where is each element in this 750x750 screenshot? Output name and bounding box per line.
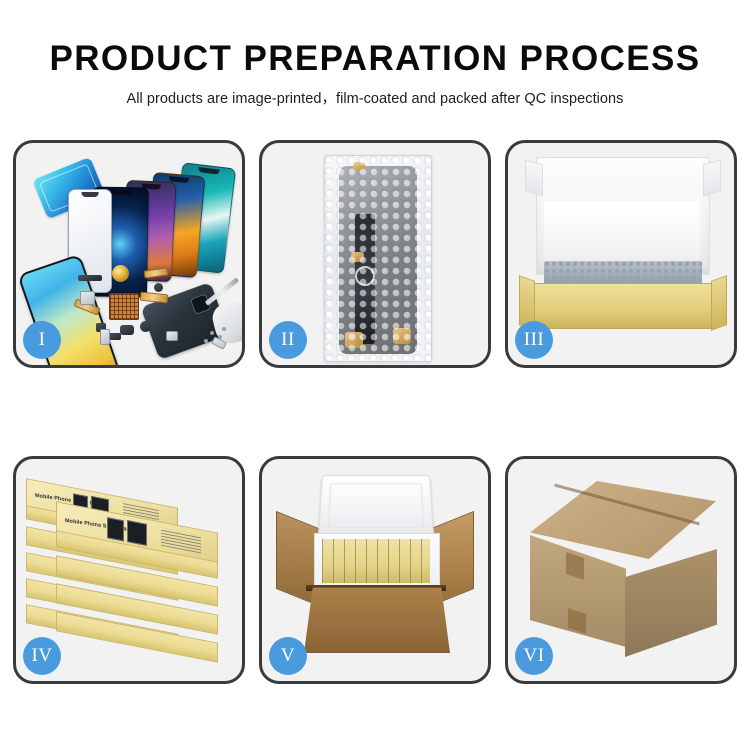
component-graphic bbox=[154, 283, 163, 292]
tape-tab-graphic bbox=[351, 252, 364, 262]
process-step-6: VI bbox=[505, 456, 737, 684]
box-print-screen bbox=[107, 517, 124, 541]
box-print-screen bbox=[127, 520, 147, 546]
carton-right-face-graphic bbox=[625, 549, 717, 657]
bubble-wrap-bag-graphic bbox=[324, 155, 432, 362]
foam-sheet-graphic bbox=[544, 201, 700, 261]
screw-graphic bbox=[218, 335, 222, 339]
component-graphic bbox=[78, 275, 102, 281]
step-badge-3: III bbox=[515, 321, 553, 359]
carton-front-graphic bbox=[304, 587, 450, 653]
page-title: PRODUCT PREPARATION PROCESS bbox=[0, 40, 750, 78]
box-stack-graphic: Mobile Phone Spare Parts Mobile Phone Sp… bbox=[24, 479, 240, 671]
tape-tab-graphic bbox=[345, 332, 363, 348]
step-badge-6: VI bbox=[515, 637, 553, 675]
process-step-1: I bbox=[13, 140, 245, 368]
tape-tab-graphic bbox=[353, 162, 365, 171]
page-header: PRODUCT PREPARATION PROCESS All products… bbox=[0, 0, 750, 108]
foam-lid-graphic bbox=[318, 475, 435, 537]
component-graphic bbox=[166, 331, 178, 341]
process-step-grid: I II III bbox=[13, 140, 737, 684]
screw-graphic bbox=[204, 339, 208, 343]
component-graphic bbox=[140, 321, 151, 332]
process-step-5: V bbox=[259, 456, 491, 684]
step-badge-1: I bbox=[23, 321, 61, 359]
speaker-coil-graphic bbox=[112, 265, 129, 282]
component-graphic bbox=[120, 325, 134, 335]
step-badge-2: II bbox=[269, 321, 307, 359]
process-step-2: II bbox=[259, 140, 491, 368]
kraft-box-base-graphic bbox=[530, 283, 716, 329]
component-graphic bbox=[100, 329, 110, 345]
yellow-boxes-inside-graphic bbox=[322, 539, 430, 583]
tape-tab-graphic bbox=[393, 328, 411, 344]
page-subtitle: All products are image-printed，film-coat… bbox=[0, 87, 750, 108]
process-step-4: Mobile Phone Spare Parts Mobile Phone Sp… bbox=[13, 456, 245, 684]
process-step-3: III bbox=[505, 140, 737, 368]
step-badge-5: V bbox=[269, 637, 307, 675]
camera-ring-graphic bbox=[355, 266, 375, 286]
screw-graphic bbox=[210, 331, 214, 335]
screw-graphic bbox=[222, 327, 226, 331]
copper-grid-graphic bbox=[109, 293, 139, 320]
step-badge-4: IV bbox=[23, 637, 61, 675]
component-graphic bbox=[80, 291, 95, 305]
